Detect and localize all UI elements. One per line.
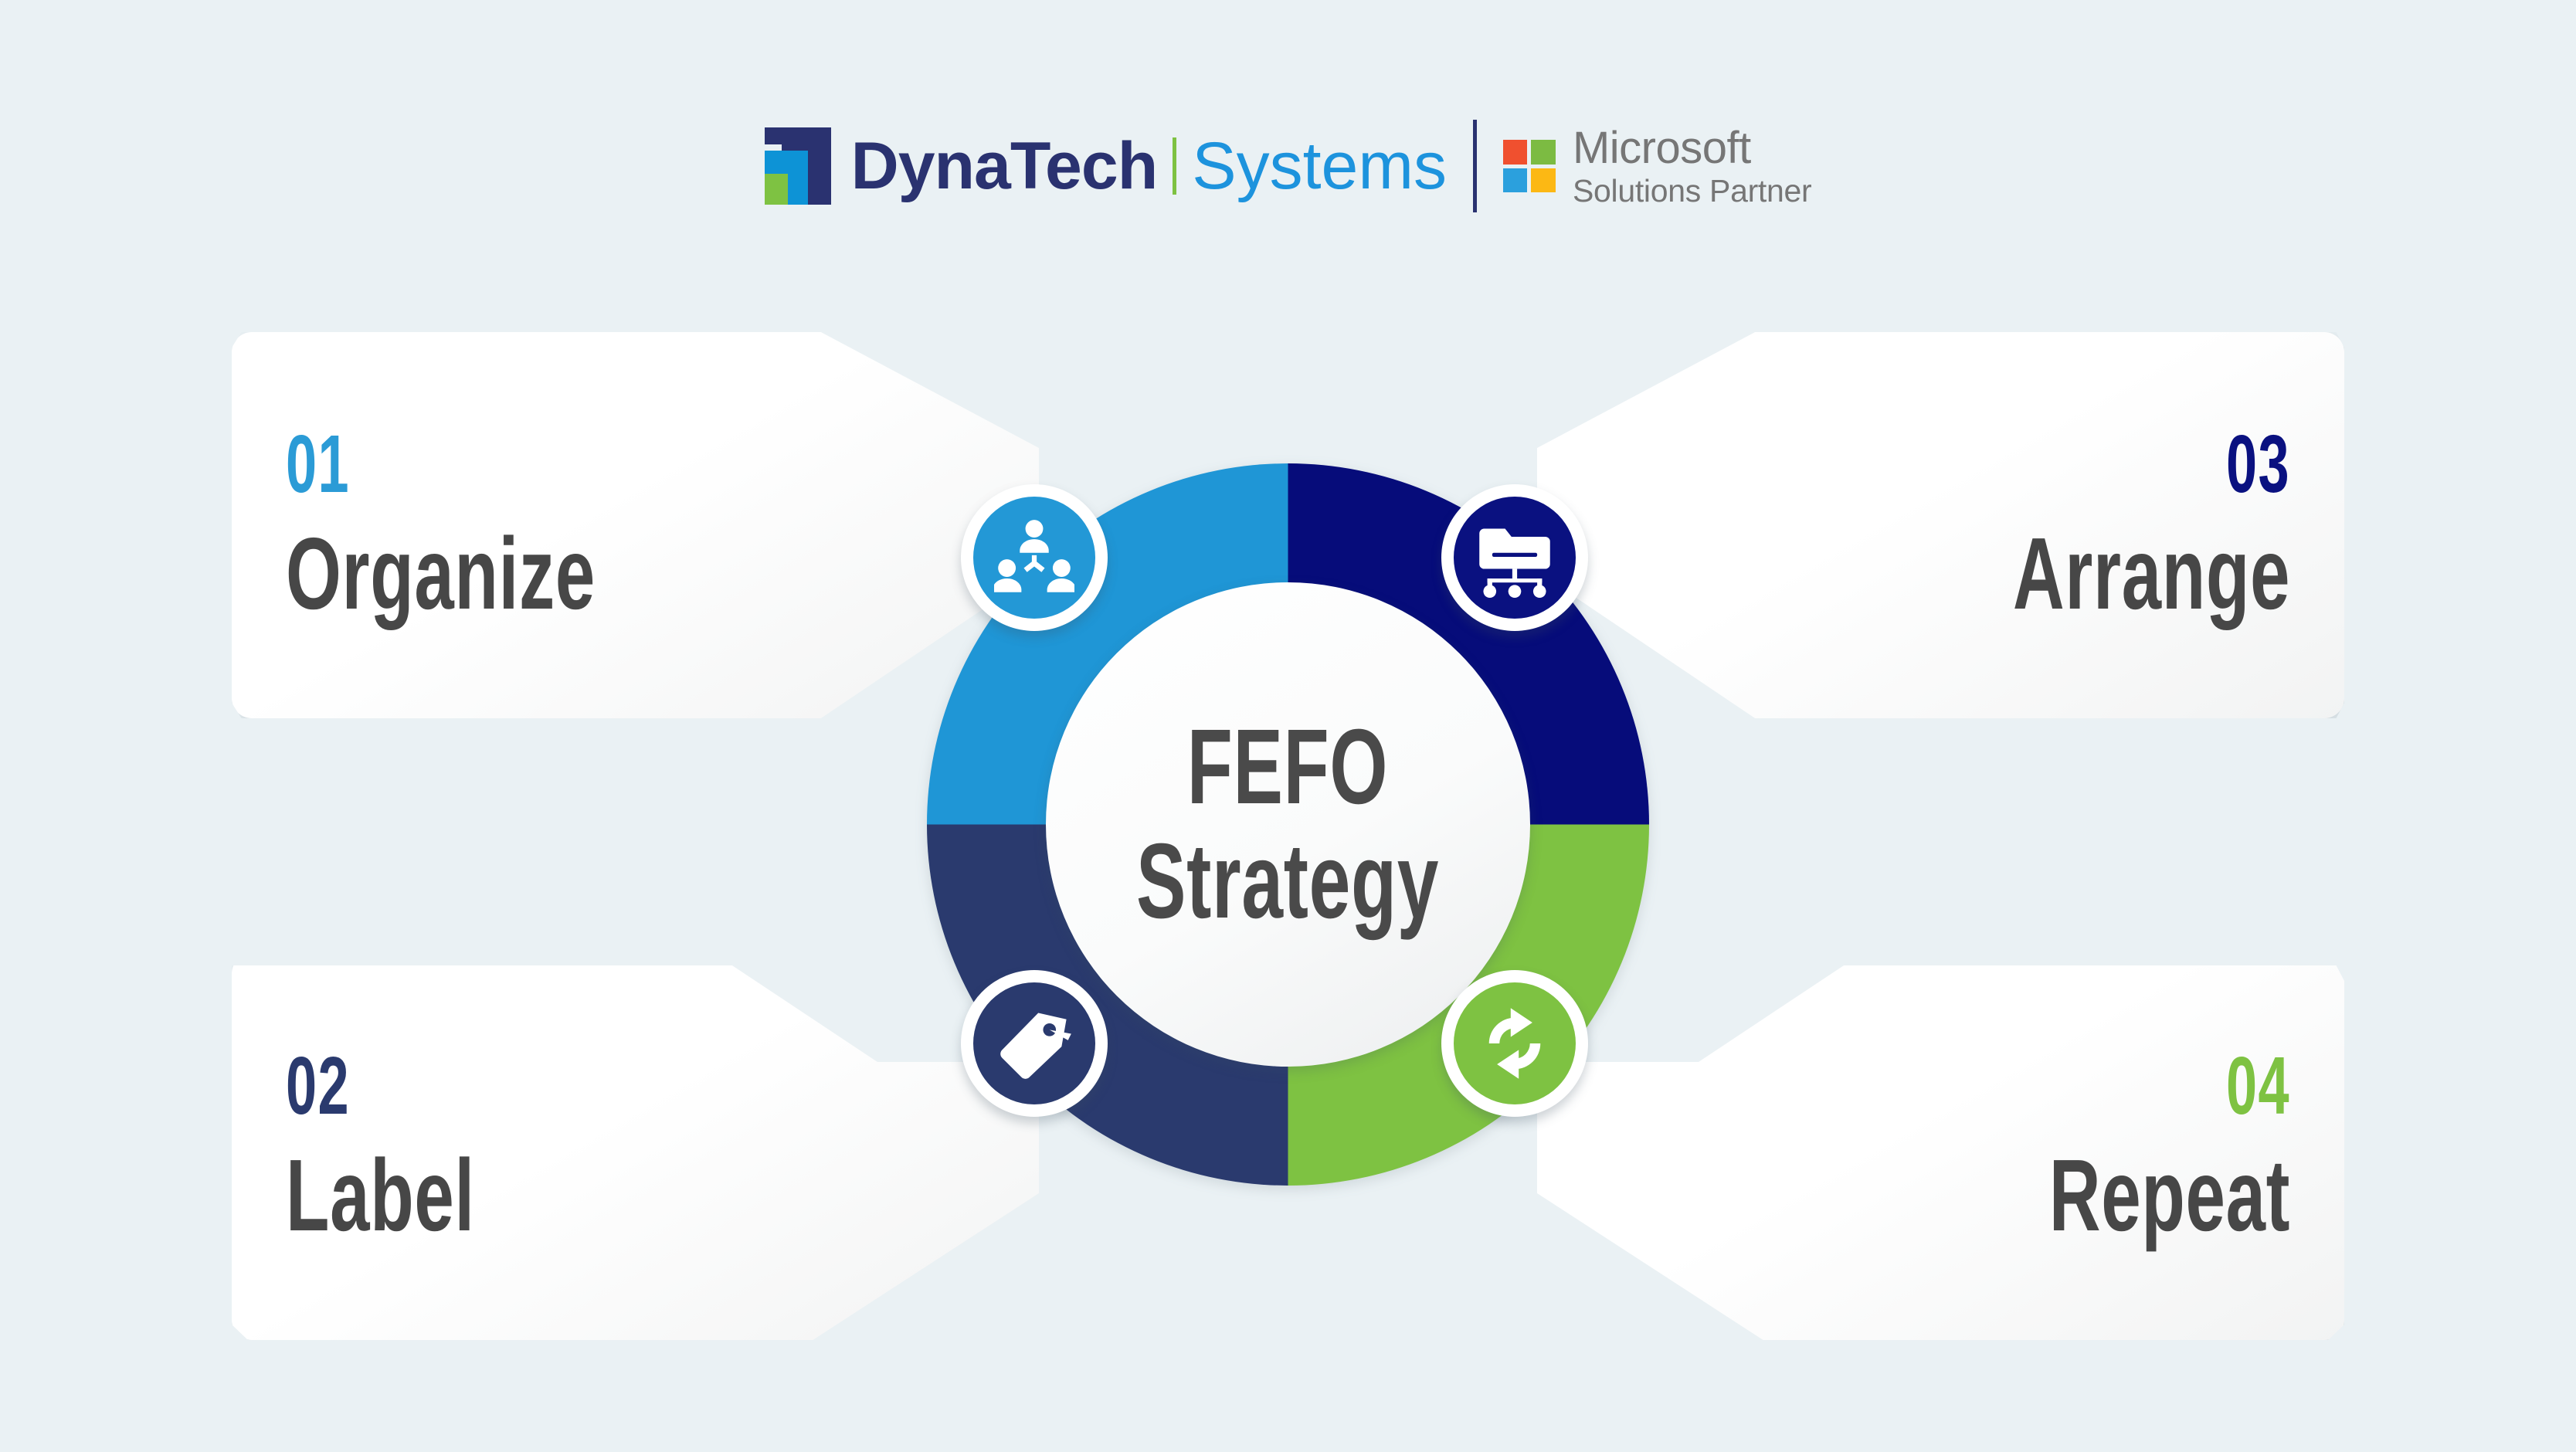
- step-icon-badge-repeat[interactable]: [1441, 970, 1588, 1117]
- step-label-label: Label: [286, 1145, 475, 1247]
- people-network-icon: [973, 497, 1095, 619]
- step-number-04: 04: [2226, 1047, 2290, 1125]
- partner-divider-navy: [1473, 120, 1477, 212]
- microsoft-four-squares-icon: [1503, 140, 1556, 192]
- step-label-organize: Organize: [286, 523, 596, 625]
- partner-subtitle: Solutions Partner: [1573, 175, 1811, 207]
- step-label-arrange: Arrange: [2013, 523, 2290, 625]
- step-icon-badge-organize[interactable]: [961, 484, 1108, 631]
- step-number-01: 01: [286, 426, 350, 504]
- donut-center: FEFO Strategy: [1046, 582, 1529, 1066]
- ms-square-yellow: [1531, 168, 1556, 193]
- step-card-repeat[interactable]: 04 Repeat: [1537, 954, 2344, 1340]
- center-title-line2: Strategy: [1136, 827, 1439, 936]
- step-card-organize[interactable]: 01 Organize: [232, 332, 1039, 718]
- dynatech-nested-squares-icon: [765, 127, 831, 205]
- step-number-03: 03: [2226, 426, 2290, 504]
- step-number-02: 02: [286, 1047, 350, 1125]
- step-card-arrange[interactable]: 03 Arrange: [1537, 332, 2344, 718]
- partner-text-block: Microsoft Solutions Partner: [1573, 126, 1811, 207]
- ms-square-red: [1503, 140, 1528, 165]
- logo-green-square: [765, 174, 788, 205]
- brand-header: DynaTech Systems Microsoft Solutions Par…: [0, 108, 2576, 224]
- step-icon-badge-arrange[interactable]: [1441, 484, 1588, 631]
- step-card-label[interactable]: 02 Label: [232, 954, 1039, 1340]
- center-title-line1: FEFO: [1187, 713, 1388, 822]
- folder-hierarchy-icon: [1454, 497, 1576, 619]
- repeat-arrows-icon: [1454, 982, 1576, 1104]
- step-icon-badge-label[interactable]: [961, 970, 1108, 1117]
- partner-title: Microsoft: [1573, 126, 1811, 171]
- brand-divider-green: [1173, 137, 1176, 195]
- brand-name: DynaTech: [851, 133, 1158, 199]
- brand-suffix: Systems: [1192, 133, 1447, 199]
- ms-square-blue: [1503, 168, 1528, 193]
- step-label-repeat: Repeat: [2049, 1145, 2290, 1247]
- price-tag-icon: [973, 982, 1095, 1104]
- ms-square-green: [1531, 140, 1556, 165]
- infographic-canvas: DynaTech Systems Microsoft Solutions Par…: [0, 0, 2576, 1452]
